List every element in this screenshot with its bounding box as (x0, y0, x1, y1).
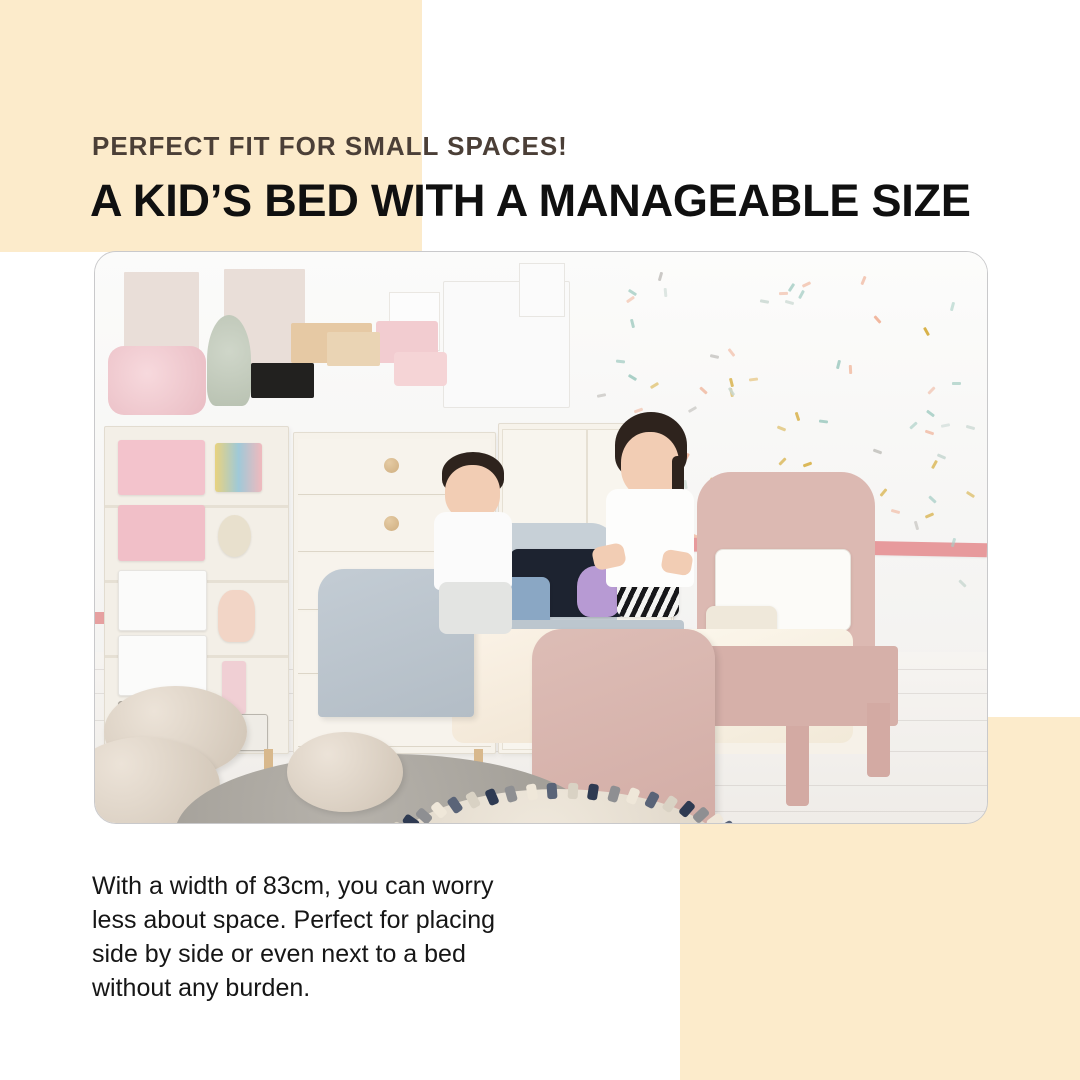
girl-head (621, 432, 678, 496)
pink-knit-blanket (108, 346, 206, 415)
pouf-3 (287, 732, 403, 812)
pink-basket (394, 352, 448, 386)
bin-white-1 (118, 570, 208, 631)
confetti-decal (663, 288, 667, 297)
pink-bed-leg-mid (786, 726, 809, 806)
rug-cream-inner (461, 823, 657, 824)
confetti-decal (779, 292, 788, 295)
body-line-4: without any burden. (92, 971, 612, 1005)
child-boy (412, 452, 537, 646)
plush-toy (218, 590, 255, 642)
body-line-1: With a width of 83cm, you can worry (92, 869, 612, 903)
product-photo (94, 251, 988, 824)
child-girl (590, 412, 715, 669)
flip-clock (251, 363, 313, 397)
body-line-3: side by side or even next to a bed (92, 937, 612, 971)
wooden-toys-row (327, 332, 381, 366)
rug-tassel (567, 783, 578, 800)
body-line-2: less about space. Perfect for placing (92, 903, 612, 937)
confetti-decal (952, 382, 961, 385)
books-row (215, 443, 263, 492)
boy-shirt (434, 512, 511, 590)
rug-tassel (525, 783, 538, 800)
body-copy: With a width of 83cm, you can worry less… (92, 869, 612, 1005)
bin-pink-1 (118, 440, 206, 495)
rug-tassel (547, 783, 558, 800)
page-title: A KID’S BED WITH A MANAGEABLE SIZE (90, 175, 971, 227)
bin-pink-2 (118, 505, 206, 560)
poster-canvas: PERFECT FIT FOR SMALL SPACES! A KID’S BE… (0, 0, 1080, 1080)
eyebrow-text: PERFECT FIT FOR SMALL SPACES! (92, 131, 568, 162)
castle-tower (519, 263, 566, 316)
boy-pants (439, 582, 511, 634)
plant-decor (207, 315, 252, 406)
pink-bed-leg-right (867, 703, 890, 777)
toy-ball (218, 515, 251, 557)
confetti-decal (849, 365, 852, 374)
